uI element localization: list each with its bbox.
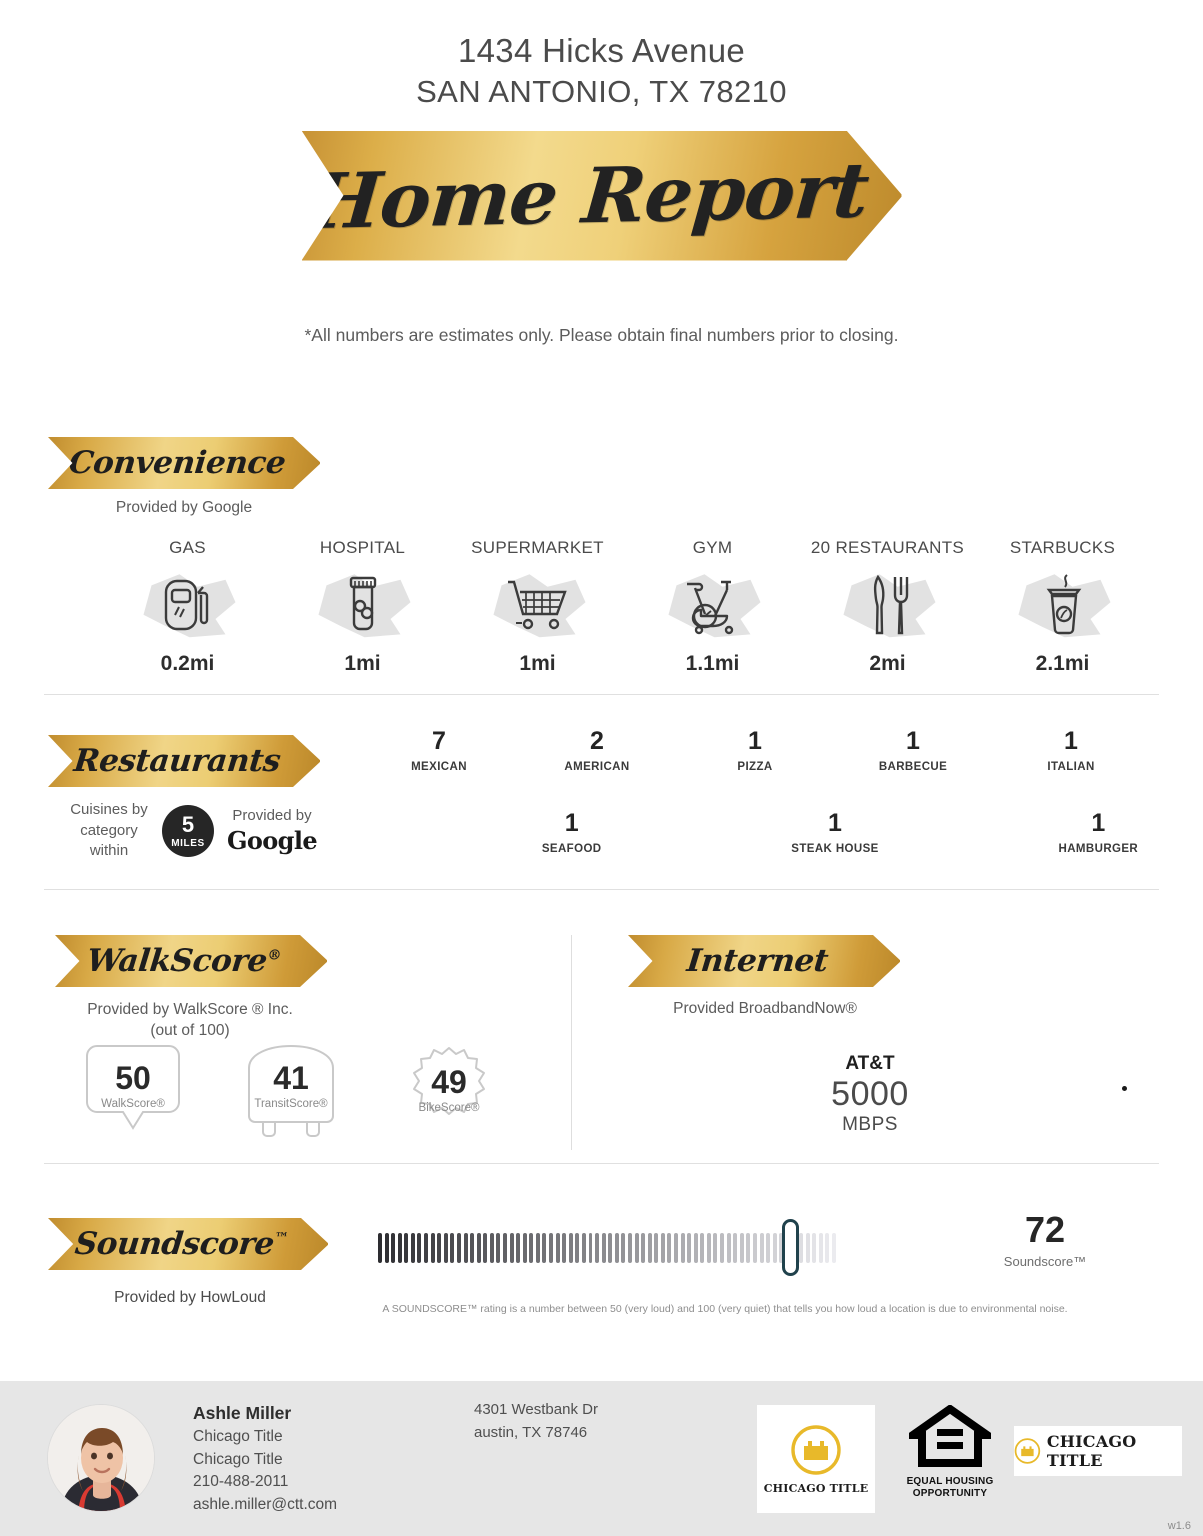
convenience-title: Convenience	[67, 445, 301, 481]
soundscore-gauge-marker	[782, 1219, 799, 1276]
report-title-text: Home Report	[306, 145, 898, 246]
internet-speed-unit: MBPS	[760, 1114, 980, 1136]
cuisine-item-steak-house: 1 STEAK HOUSE	[703, 810, 966, 855]
soundscore-title-text: Soundscore	[73, 1226, 276, 1262]
soundscore-tick	[766, 1233, 770, 1263]
soundscore-tick	[825, 1233, 829, 1263]
agent-info: Ashle Miller Chicago Title Chicago Title…	[193, 1401, 337, 1516]
soundscore-tick	[444, 1233, 448, 1263]
soundscore-section-header: Soundscore™	[48, 1218, 328, 1270]
report-title-ribbon: Home Report	[0, 131, 1203, 261]
section-divider	[44, 1163, 1159, 1164]
cuisine-label: PIZZA	[676, 761, 834, 773]
soundscore-tick	[569, 1233, 573, 1263]
cuisine-item-pizza: 1 PIZZA	[676, 728, 834, 773]
soundscore-tick	[378, 1233, 382, 1263]
convenience-item-gym: GYM 1.1mi	[625, 538, 800, 676]
soundscore-tick	[661, 1233, 665, 1263]
cuisine-item-italian: 1 ITALIAN	[992, 728, 1150, 773]
cuisine-label: HAMBURGER	[967, 843, 1203, 855]
property-address: 1434 Hicks Avenue SAN ANTONIO, TX 78210	[0, 0, 1203, 113]
soundscore-tick	[549, 1233, 553, 1263]
soundscore-tick	[819, 1233, 823, 1263]
soundscore-value: 72	[955, 1212, 1135, 1248]
soundscore-gauge	[378, 1228, 838, 1268]
cuisine-count: 1	[834, 728, 992, 756]
agent-name: Ashle Miller	[193, 1401, 337, 1426]
shopping-cart-icon	[450, 566, 625, 644]
radius-unit: MILES	[171, 838, 205, 849]
chicago-title-wide-logo: CHICAGO TITLE	[1014, 1426, 1182, 1476]
convenience-distance: 2mi	[800, 652, 975, 676]
convenience-label: HOSPITAL	[275, 538, 450, 558]
gas-pump-icon	[100, 566, 275, 644]
convenience-item-supermarket: SUPERMARKET 1mi	[450, 538, 625, 676]
cuisine-count: 7	[360, 728, 518, 756]
soundscore-tick	[556, 1233, 560, 1263]
cuisine-count: 1	[676, 728, 834, 756]
cuisine-row-1: 7 MEXICAN 2 AMERICAN 1 PIZZA 1 BARBECUE …	[360, 728, 1150, 773]
soundscore-tick	[700, 1233, 704, 1263]
soundscore-value-block: 72 Soundscore™	[955, 1212, 1135, 1269]
convenience-section-header: Convenience Provided by Google	[48, 437, 320, 517]
trademark-mark: ™	[273, 1231, 288, 1247]
chicago-title-logo-text: CHICAGO TITLE	[764, 1482, 869, 1495]
cuisine-count: 1	[992, 728, 1150, 756]
cuisine-count: 1	[440, 810, 703, 838]
walkscore-badge: 50 WalkScore®	[58, 1040, 208, 1148]
soundscore-tick	[713, 1233, 717, 1263]
address-city-state-zip: SAN ANTONIO, TX 78210	[0, 72, 1203, 112]
soundscore-tick	[727, 1233, 731, 1263]
radius-badge: 5 MILES	[162, 805, 214, 857]
soundscore-tick	[503, 1233, 507, 1263]
walkscore-section-header: WalkScore®	[55, 935, 327, 987]
soundscore-tick	[542, 1233, 546, 1263]
pill-bottle-icon	[275, 566, 450, 644]
internet-bullet-dot	[1122, 1086, 1127, 1091]
soundscore-tick	[464, 1233, 468, 1263]
soundscore-tick	[799, 1233, 803, 1263]
soundscore-provided-by: Provided by HowLoud	[30, 1289, 350, 1307]
soundscore-tick	[516, 1233, 520, 1263]
soundscore-tick	[496, 1233, 500, 1263]
convenience-distance: 1mi	[275, 652, 450, 676]
internet-speed-value: 5000	[760, 1075, 980, 1114]
coffee-cup-icon	[975, 566, 1150, 644]
soundscore-tick	[621, 1233, 625, 1263]
cuisine-label: AMERICAN	[518, 761, 676, 773]
section-divider	[44, 889, 1159, 890]
soundscore-tick	[608, 1233, 612, 1263]
convenience-item-restaurants: 20 RESTAURANTS 2mi	[800, 538, 975, 676]
convenience-label: 20 RESTAURANTS	[800, 538, 975, 558]
cuisine-item-barbecue: 1 BARBECUE	[834, 728, 992, 773]
soundscore-tick	[746, 1233, 750, 1263]
soundscore-tick	[510, 1233, 514, 1263]
soundscore-tick	[431, 1233, 435, 1263]
convenience-label: GAS	[100, 538, 275, 558]
soundscore-tick	[411, 1233, 415, 1263]
radius-value: 5	[182, 814, 194, 836]
bikescore-label: BikeScore®	[374, 1102, 524, 1114]
walkscore-value: 50	[58, 1062, 208, 1094]
soundscore-tick	[681, 1233, 685, 1263]
office-address-line2: austin, TX 78746	[474, 1422, 598, 1445]
convenience-provided-by: Provided by Google	[48, 499, 320, 517]
soundscore-tick	[595, 1233, 599, 1263]
convenience-label: STARBUCKS	[975, 538, 1150, 558]
restaurants-subheader: Cuisines by category within 5 MILES Prov…	[48, 800, 338, 862]
soundscore-tick	[529, 1233, 533, 1263]
walkscore-provider-text: Provided by WalkScore ® Inc.	[30, 1000, 350, 1021]
soundscore-tick	[806, 1233, 810, 1263]
chicago-title-wide-logo-text: CHICAGO TITLE	[1047, 1432, 1182, 1470]
walkscore-label: WalkScore®	[58, 1098, 208, 1110]
soundscore-tick	[477, 1233, 481, 1263]
home-report-page: 1434 Hicks Avenue SAN ANTONIO, TX 78210 …	[0, 0, 1203, 1536]
soundscore-tick	[740, 1233, 744, 1263]
soundscore-tick	[760, 1233, 764, 1263]
convenience-item-starbucks: STARBUCKS 2.1mi	[975, 538, 1150, 676]
convenience-label: GYM	[625, 538, 800, 558]
estimates-disclaimer: *All numbers are estimates only. Please …	[0, 325, 1203, 346]
soundscore-tick	[483, 1233, 487, 1263]
cuisine-item-mexican: 7 MEXICAN	[360, 728, 518, 773]
convenience-label: SUPERMARKET	[450, 538, 625, 558]
convenience-distance: 2.1mi	[975, 652, 1150, 676]
walkscore-badges: 50 WalkScore® 41 TransitScore® 49 BikeSc…	[58, 1040, 528, 1148]
soundscore-tick	[720, 1233, 724, 1263]
walkscore-scale-text: (out of 100)	[30, 1021, 350, 1042]
soundscore-tick	[437, 1233, 441, 1263]
bikescore-badge: 49 BikeScore®	[374, 1040, 524, 1148]
soundscore-tick	[641, 1233, 645, 1263]
soundscore-tick	[417, 1233, 421, 1263]
soundscore-tick	[450, 1233, 454, 1263]
restaurants-provider: Provided by Google	[223, 807, 321, 855]
cuisine-count: 1	[703, 810, 966, 838]
soundscore-tick	[589, 1233, 593, 1263]
chicago-title-logo: CHICAGO TITLE	[757, 1405, 875, 1513]
cuisine-label: STEAK HOUSE	[703, 843, 966, 855]
soundscore-tick	[582, 1233, 586, 1263]
equal-housing-opportunity-logo: EQUAL HOUSING OPPORTUNITY	[900, 1405, 1000, 1500]
soundscore-tick	[654, 1233, 658, 1263]
soundscore-tick	[575, 1233, 579, 1263]
knife-fork-icon	[800, 566, 975, 644]
soundscore-tick	[674, 1233, 678, 1263]
soundscore-tick	[523, 1233, 527, 1263]
cuisine-label: MEXICAN	[360, 761, 518, 773]
convenience-distance: 1.1mi	[625, 652, 800, 676]
version-tag: w1.6	[1168, 1520, 1191, 1532]
cuisine-row-2: 1 SEAFOOD 1 STEAK HOUSE 1 HAMBURGER	[440, 810, 1203, 855]
soundscore-tick	[707, 1233, 711, 1263]
soundscore-tick	[398, 1233, 402, 1263]
cuisine-label: BARBECUE	[834, 761, 992, 773]
soundscore-tick	[536, 1233, 540, 1263]
internet-provider-name: AT&T	[760, 1053, 980, 1075]
soundscore-tick	[424, 1233, 428, 1263]
soundscore-tick	[812, 1233, 816, 1263]
internet-section-header: Internet	[628, 935, 900, 987]
transitscore-label: TransitScore®	[216, 1098, 366, 1110]
internet-provider-block: AT&T 5000 MBPS	[760, 1053, 980, 1136]
agent-email[interactable]: ashle.miller@ctt.com	[193, 1494, 337, 1516]
cuisine-count: 2	[518, 728, 676, 756]
convenience-distance: 0.2mi	[100, 652, 275, 676]
cuisine-count: 1	[967, 810, 1203, 838]
soundscore-tick	[385, 1233, 389, 1263]
soundscore-tick	[490, 1233, 494, 1263]
soundscore-tick	[773, 1233, 777, 1263]
soundscore-value-label: Soundscore™	[955, 1254, 1135, 1269]
soundscore-tick	[562, 1233, 566, 1263]
soundscore-tick	[602, 1233, 606, 1263]
provided-by-label: Provided by	[223, 807, 321, 824]
agent-phone[interactable]: 210-488-2011	[193, 1471, 337, 1493]
avatar	[47, 1404, 155, 1512]
vertical-divider	[571, 935, 572, 1150]
cuisine-item-american: 2 AMERICAN	[518, 728, 676, 773]
soundscore-note: A SOUNDSCORE™ rating is a number between…	[330, 1303, 1120, 1315]
office-address: 4301 Westbank Dr austin, TX 78746	[474, 1399, 598, 1444]
exercise-bike-icon	[625, 566, 800, 644]
soundscore-tick	[391, 1233, 395, 1263]
soundscore-tick	[615, 1233, 619, 1263]
google-logo-text: Google	[223, 826, 321, 855]
eho-logo-line-1: EQUAL HOUSING	[900, 1476, 1000, 1488]
transitscore-badge: 41 TransitScore®	[216, 1040, 366, 1148]
soundscore-tick	[687, 1233, 691, 1263]
cuisine-item-hamburger: 1 HAMBURGER	[967, 810, 1203, 855]
bikescore-value: 49	[374, 1066, 524, 1098]
soundscore-tick	[457, 1233, 461, 1263]
section-divider	[44, 694, 1159, 695]
restaurants-title: Restaurants	[72, 743, 296, 779]
internet-title: Internet	[685, 943, 844, 979]
soundscore-title: Soundscore™	[73, 1226, 303, 1262]
convenience-items: GAS 0.2mi HOSPITAL	[100, 538, 1150, 676]
convenience-item-hospital: HOSPITAL 1mi	[275, 538, 450, 676]
soundscore-tick	[404, 1233, 408, 1263]
soundscore-tick	[832, 1233, 836, 1263]
soundscore-tick	[628, 1233, 632, 1263]
soundscore-tick	[648, 1233, 652, 1263]
registered-mark: ®	[267, 948, 282, 964]
office-address-line1: 4301 Westbank Dr	[474, 1399, 598, 1422]
soundscore-tick	[733, 1233, 737, 1263]
restaurants-section-header: Restaurants	[48, 735, 320, 787]
walkscore-title: WalkScore®	[85, 943, 296, 979]
transitscore-value: 41	[216, 1062, 366, 1094]
internet-provided-by: Provided BroadbandNow®	[600, 1000, 930, 1018]
cuisine-label: ITALIAN	[992, 761, 1150, 773]
cuisine-label: SEAFOOD	[440, 843, 703, 855]
agent-company-1: Chicago Title	[193, 1426, 337, 1448]
soundscore-tick	[635, 1233, 639, 1263]
convenience-distance: 1mi	[450, 652, 625, 676]
convenience-item-gas: GAS 0.2mi	[100, 538, 275, 676]
restaurants-subtitle: Cuisines by category within	[65, 800, 153, 862]
page-footer: Ashle Miller Chicago Title Chicago Title…	[0, 1381, 1203, 1536]
soundscore-tick	[667, 1233, 671, 1263]
walkscore-provided-by: Provided by WalkScore ® Inc. (out of 100…	[30, 1000, 350, 1042]
walkscore-title-text: WalkScore	[85, 943, 269, 979]
soundscore-tick	[470, 1233, 474, 1263]
agent-company-2: Chicago Title	[193, 1449, 337, 1471]
address-street: 1434 Hicks Avenue	[0, 30, 1203, 72]
cuisine-item-seafood: 1 SEAFOOD	[440, 810, 703, 855]
soundscore-tick	[694, 1233, 698, 1263]
soundscore-tick	[753, 1233, 757, 1263]
eho-logo-line-2: OPPORTUNITY	[900, 1488, 1000, 1500]
